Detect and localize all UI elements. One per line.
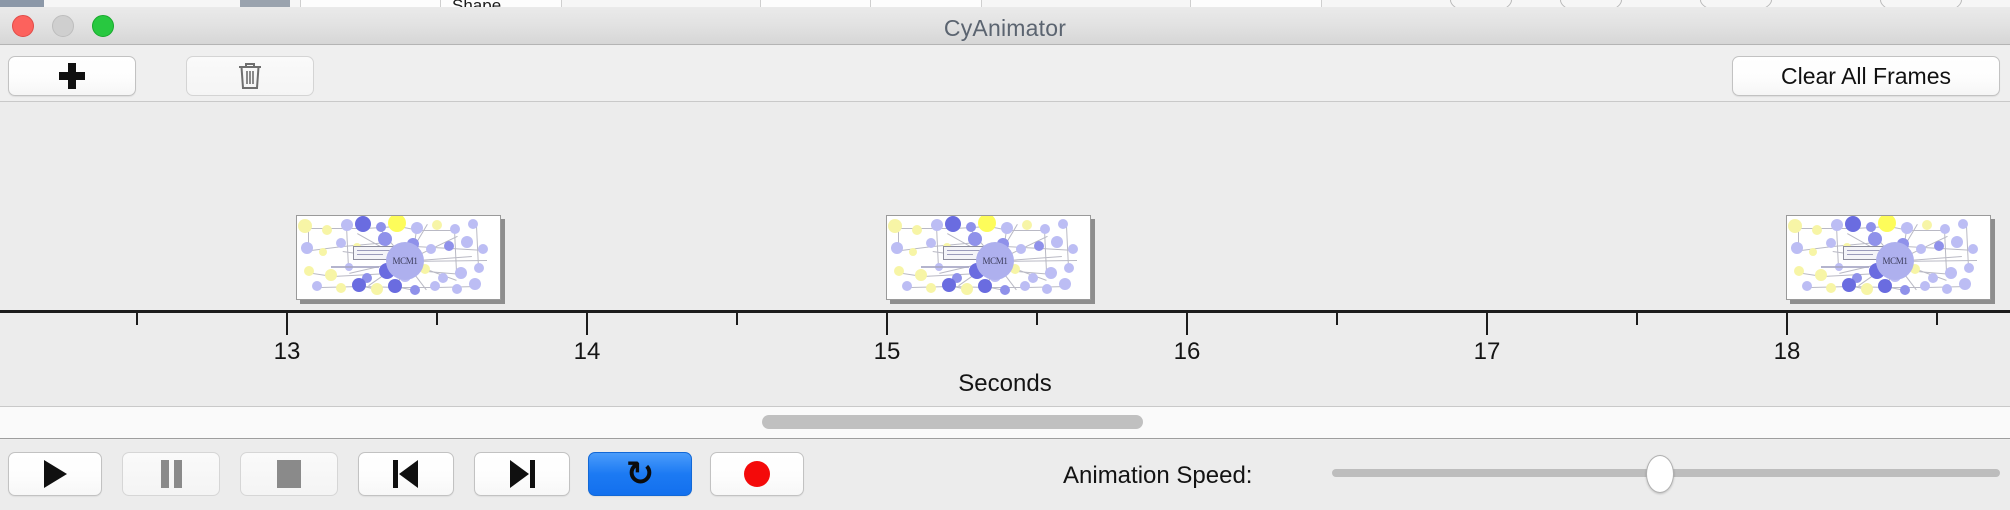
axis-tick-label: 16 [1174,338,1201,366]
network-node [355,216,371,232]
network-node [1928,273,1938,283]
network-node [1951,236,1963,248]
loop-button[interactable]: ↻ [588,452,692,496]
network-node [1942,284,1952,294]
axis-tick [286,313,288,335]
network-node [891,242,903,254]
network-node [902,281,912,291]
axis-tick-label: 14 [574,338,601,366]
network-node [478,244,488,254]
network-node [1945,267,1957,279]
network-node [1826,238,1836,248]
record-icon [744,461,770,487]
network-node [336,283,346,293]
frame-network-image: MCM1 [296,215,501,300]
network-edge [346,226,349,268]
network-node [304,266,314,276]
network-node [1861,283,1873,295]
network-node [1045,267,1057,279]
timeline-panel[interactable]: MCM1MCM1MCM1 2131415161718 Seconds [0,102,2010,407]
stop-button[interactable] [240,452,338,496]
axis-title: Seconds [0,370,2010,398]
axis-tick [886,313,888,335]
axis-tick-label: 17 [1474,338,1501,366]
network-node [1812,225,1822,235]
network-node [1059,278,1071,290]
network-node [1802,281,1812,291]
timeline-axis-line [0,310,2010,313]
network-node [376,222,386,232]
network-node [931,219,943,231]
axis-tick [1786,313,1788,335]
network-node [1878,215,1896,232]
network-node [1794,266,1804,276]
network-node [945,216,961,232]
window-title: CyAnimator [0,15,2010,42]
network-node [1959,278,1971,290]
pause-icon [161,460,182,488]
network-node [1901,222,1913,234]
network-node [978,279,992,293]
network-node [1868,232,1882,246]
animation-speed-label: Animation Speed: [1063,462,1252,490]
network-node [469,278,481,290]
network-node [915,269,927,281]
axis-tick [1336,313,1338,325]
network-node [1040,224,1050,234]
axis-tick [1486,313,1488,335]
animation-speed-slider[interactable] [1332,469,2000,477]
network-node [1042,284,1052,294]
horizontal-scrollbar[interactable] [0,407,2010,439]
network-node [301,242,313,254]
network-node [1022,220,1032,230]
pause-button[interactable] [122,452,220,496]
network-node [319,248,327,256]
network-node [894,266,904,276]
network-node [1940,224,1950,234]
network-node [1934,241,1944,251]
playback-control-bar: ↻ Animation Speed: [0,440,2010,510]
stop-icon [277,460,301,488]
network-node [1034,241,1044,251]
network-node [1831,219,1843,231]
network-node [966,222,976,232]
frame-caption-line [331,266,379,268]
network-node [1842,278,1856,292]
cyanimator-window: Shape CyAnimator Clear All Frames [0,0,2010,510]
network-node [1845,216,1861,232]
axis-tick [1036,313,1038,325]
network-node [1809,248,1817,256]
network-node [1866,222,1876,232]
network-node [336,238,346,248]
loop-icon: ↻ [626,457,655,491]
network-node [371,283,383,295]
network-node [450,224,460,234]
network-node [378,232,392,246]
network-node [426,244,436,254]
network-node [388,215,406,232]
network-node [438,273,448,283]
network-node [452,284,462,294]
network-hub-node: MCM1 [386,242,424,280]
network-node [444,241,454,251]
network-node [1900,285,1910,295]
network-node [432,220,442,230]
axis-tick [1186,313,1188,335]
network-node [474,263,484,273]
network-node [888,219,902,233]
network-node [1922,220,1932,230]
network-edge [1836,226,1839,268]
network-node [1068,244,1078,254]
axis-tick-label: 15 [874,338,901,366]
network-node [1000,285,1010,295]
network-node [411,222,423,234]
network-node [926,238,936,248]
network-node [1920,281,1930,291]
plus-icon [59,63,85,89]
axis-tick [736,313,738,325]
network-node [961,283,973,295]
network-node [388,279,402,293]
annotation-text-line [357,254,383,255]
network-node [1958,219,1968,229]
title-bar: CyAnimator [0,7,2010,45]
network-node [1028,273,1038,283]
network-node [430,281,440,291]
axis-tick-label: 18 [1774,338,1801,366]
frame-thumbnail[interactable]: MCM1 [886,215,1091,300]
network-node [926,283,936,293]
play-icon [44,460,67,488]
frame-caption-line [921,266,969,268]
slider-thumb[interactable] [1646,455,1674,493]
add-frame-button[interactable] [8,56,136,96]
frame-network-image: MCM1 [1786,215,1991,300]
network-hub-label: MCM1 [393,256,418,266]
network-node [1016,244,1026,254]
network-node [1916,244,1926,254]
network-node [410,285,420,295]
network-edge [936,226,939,268]
network-node [1058,219,1068,229]
network-node [1064,263,1074,273]
network-node [1051,236,1063,248]
network-node [298,219,312,233]
axis-tick [136,313,138,325]
trash-icon [237,61,263,91]
play-button[interactable] [8,452,102,496]
clear-all-frames-button[interactable]: Clear All Frames [1732,56,2000,96]
network-node [1815,269,1827,281]
network-node [468,219,478,229]
network-hub-label: MCM1 [1883,256,1908,266]
network-node [978,215,996,232]
axis-tick [1636,313,1638,325]
network-hub-node: MCM1 [976,242,1014,280]
delete-frame-button[interactable] [186,56,314,96]
toolbar: Clear All Frames [0,46,2010,102]
network-node [1001,222,1013,234]
network-node [1964,263,1974,273]
axis-tick [436,313,438,325]
network-hub-node: MCM1 [1876,242,1914,280]
network-node [325,269,337,281]
network-node [1788,219,1802,233]
network-node [1791,242,1803,254]
network-node [341,219,353,231]
network-node [1826,283,1836,293]
network-node [1968,244,1978,254]
network-node [912,225,922,235]
previous-frame-button[interactable] [358,452,454,496]
frame-thumbnail[interactable]: MCM1 [296,215,501,300]
axis-tick-label: 13 [274,338,301,366]
record-button[interactable] [710,452,804,496]
axis-tick [1936,313,1938,325]
network-node [461,236,473,248]
skip-forward-icon [509,460,535,488]
annotation-text-line [947,254,973,255]
skip-back-icon [393,460,419,488]
network-hub-label: MCM1 [983,256,1008,266]
network-node [1878,279,1892,293]
network-node [455,267,467,279]
network-node [968,232,982,246]
network-node [312,281,322,291]
frame-thumbnail[interactable]: MCM1 [1786,215,1991,300]
axis-tick [586,313,588,335]
next-frame-button[interactable] [474,452,570,496]
network-node [909,248,917,256]
frame-caption-line [1821,266,1869,268]
network-node [1020,281,1030,291]
network-node [322,225,332,235]
frame-network-image: MCM1 [886,215,1091,300]
annotation-text-line [1847,254,1873,255]
clear-all-frames-label: Clear All Frames [1781,63,1951,90]
network-node [942,278,956,292]
scrollbar-thumb[interactable] [762,415,1143,429]
network-node [352,278,366,292]
